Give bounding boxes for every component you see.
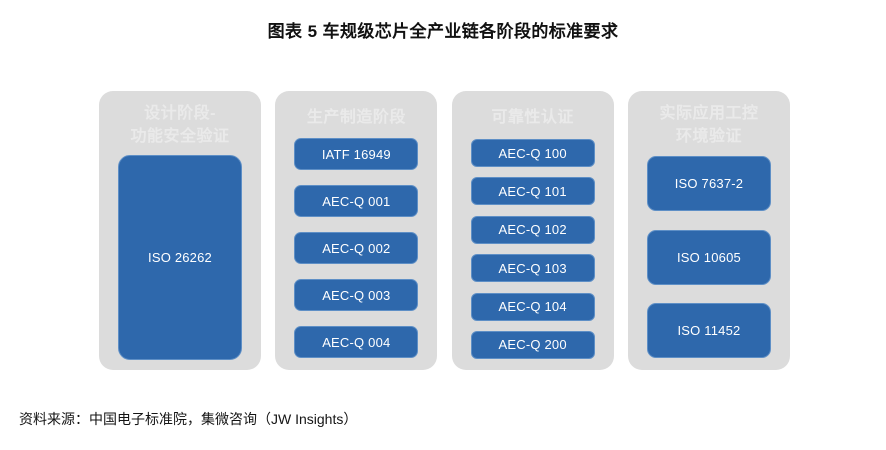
standard-box[interactable]: AEC-Q 004 [294, 326, 418, 358]
standard-box[interactable]: IATF 16949 [294, 138, 418, 170]
standard-box[interactable]: ISO 10605 [647, 230, 771, 285]
standard-box[interactable]: ISO 11452 [647, 303, 771, 358]
stage-header-line: 功能安全验证 [99, 125, 261, 148]
stage-header-line: 可靠性认证 [452, 106, 614, 129]
stage-column-design: 设计阶段- 功能安全验证 ISO 26262 [99, 91, 261, 370]
standard-box[interactable]: AEC-Q 103 [471, 254, 595, 282]
stage-header-application: 实际应用工控 环境验证 [628, 91, 790, 148]
standard-box[interactable]: AEC-Q 104 [471, 293, 595, 321]
stage-header-line: 生产制造阶段 [275, 106, 437, 129]
standard-box[interactable]: AEC-Q 001 [294, 185, 418, 217]
stage-column-manufacturing: 生产制造阶段 IATF 16949 AEC-Q 001 AEC-Q 002 AE… [275, 91, 437, 370]
stage-header-reliability: 可靠性认证 [452, 91, 614, 129]
source-note: 资料来源：中国电子标准院，集微咨询（JW Insights） [19, 408, 357, 430]
stage-header-line: 实际应用工控 [628, 102, 790, 125]
stage-column-application: 实际应用工控 环境验证 ISO 7637-2 ISO 10605 ISO 114… [628, 91, 790, 370]
page-title: 图表 5 车规级芯片全产业链各阶段的标准要求 [0, 20, 886, 44]
stage-items-application: ISO 7637-2 ISO 10605 ISO 11452 [628, 148, 790, 370]
stage-items-design: ISO 26262 [99, 148, 261, 370]
standard-box[interactable]: AEC-Q 200 [471, 331, 595, 359]
standard-box[interactable]: AEC-Q 100 [471, 139, 595, 167]
stage-header-line: 设计阶段- [99, 102, 261, 125]
stage-items-reliability: AEC-Q 100 AEC-Q 101 AEC-Q 102 AEC-Q 103 … [452, 129, 614, 370]
standard-box[interactable]: AEC-Q 102 [471, 216, 595, 244]
standards-diagram: 设计阶段- 功能安全验证 ISO 26262 生产制造阶段 IATF 16949… [99, 91, 790, 370]
standard-box[interactable]: AEC-Q 101 [471, 177, 595, 205]
stage-header-design: 设计阶段- 功能安全验证 [99, 91, 261, 148]
stage-items-manufacturing: IATF 16949 AEC-Q 001 AEC-Q 002 AEC-Q 003… [275, 129, 437, 370]
stage-header-manufacturing: 生产制造阶段 [275, 91, 437, 129]
standard-box[interactable]: ISO 7637-2 [647, 156, 771, 211]
stage-column-reliability: 可靠性认证 AEC-Q 100 AEC-Q 101 AEC-Q 102 AEC-… [452, 91, 614, 370]
standard-box[interactable]: AEC-Q 002 [294, 232, 418, 264]
standard-box[interactable]: ISO 26262 [118, 155, 242, 360]
standard-box[interactable]: AEC-Q 003 [294, 279, 418, 311]
stage-header-line: 环境验证 [628, 125, 790, 148]
